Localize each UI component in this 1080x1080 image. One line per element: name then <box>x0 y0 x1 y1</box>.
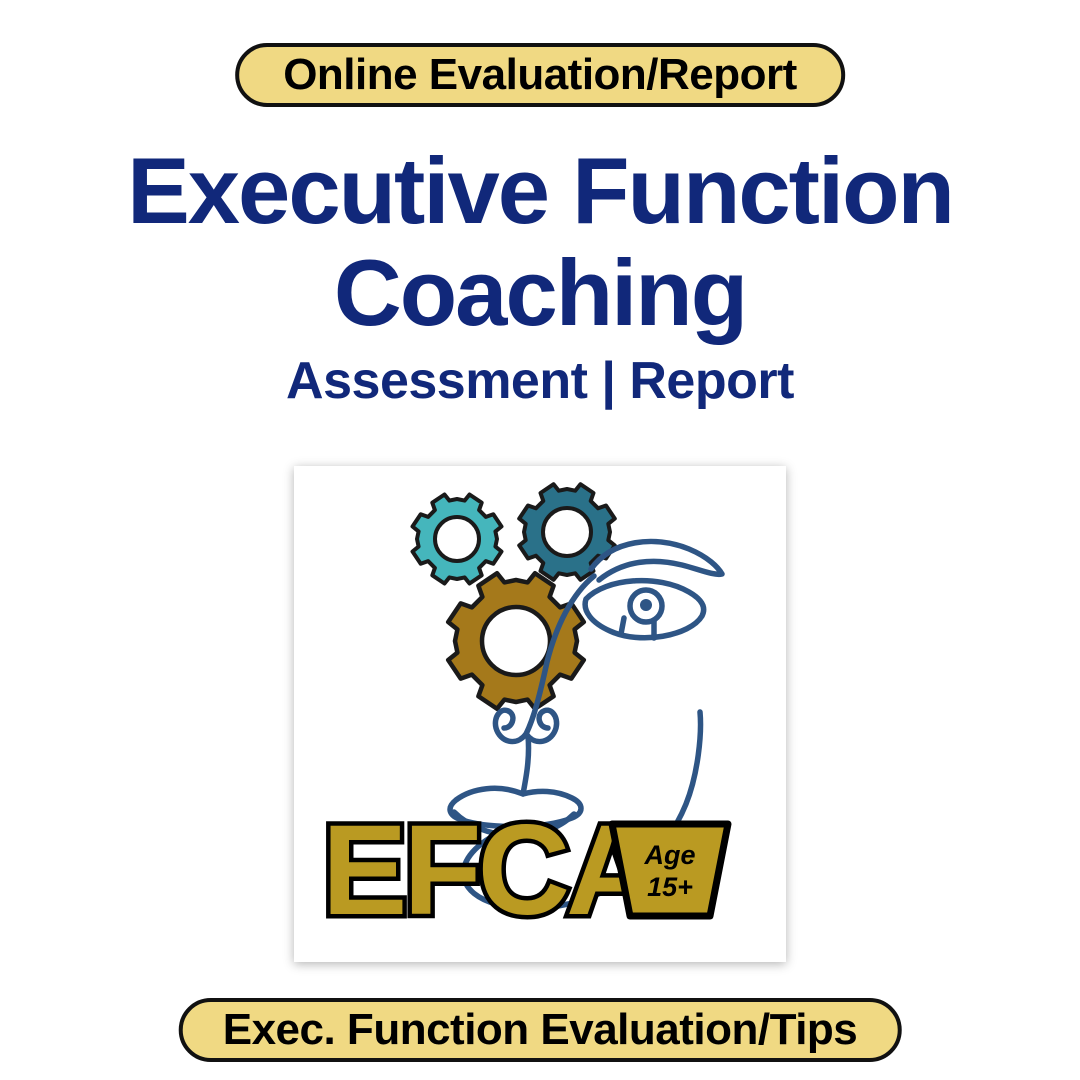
bottom-banner-pill[interactable]: Exec. Function Evaluation/Tips <box>179 998 902 1062</box>
poster-canvas: Online Evaluation/Report Executive Funct… <box>0 0 1080 1080</box>
bottom-banner-label: Exec. Function Evaluation/Tips <box>223 1005 858 1055</box>
efca-logo-graphic: EFCA Age 15+ <box>294 466 786 962</box>
page-subtitle: Assessment | Report <box>0 351 1080 411</box>
heading-block: Executive Function Coaching Assessment |… <box>0 140 1080 411</box>
age-badge-shape <box>612 824 728 916</box>
efca-wordmark: EFCA <box>322 799 656 942</box>
age-badge-line-1: Age <box>643 840 695 870</box>
page-title-line-2: Coaching <box>0 242 1080 344</box>
efca-wordmark-text: EFCA <box>322 799 656 942</box>
logo-card: EFCA Age 15+ <box>294 466 786 962</box>
age-badge-line-2: 15+ <box>647 872 693 902</box>
top-banner-label: Online Evaluation/Report <box>283 50 797 100</box>
age-badge: Age 15+ <box>612 824 728 916</box>
top-banner-pill[interactable]: Online Evaluation/Report <box>235 43 845 107</box>
page-title-line-1: Executive Function <box>0 140 1080 242</box>
